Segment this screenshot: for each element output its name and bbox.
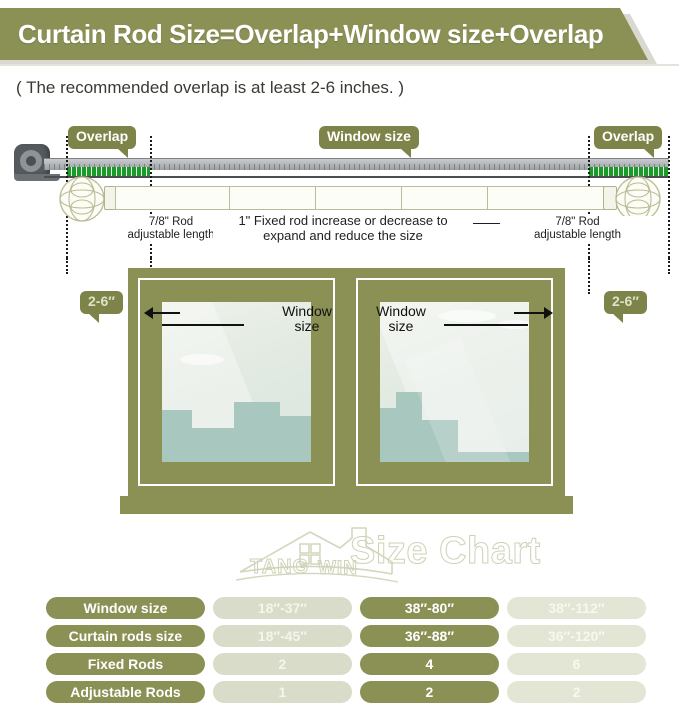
cell-fixed-rods-col1: 2	[213, 653, 352, 675]
row-header-fixed-rods: Fixed Rods	[46, 653, 205, 675]
badge-tail	[88, 313, 99, 323]
dim-center-line1: 1" Fixed rod increase or decrease to	[213, 214, 473, 229]
row-header-curtain-rods-size: Curtain rods size	[46, 625, 205, 647]
badge-2-6-right-label: 2-6″	[612, 293, 639, 309]
header-banner: Curtain Rod Size=Overlap+Window size+Ove…	[0, 8, 679, 66]
window-size-right-line1: Window	[364, 304, 438, 319]
rod-adjustable-right	[487, 186, 605, 210]
brand-logo-block: TANG WIN Size Chart	[222, 524, 552, 586]
badge-window-size-label: Window size	[327, 128, 411, 144]
window-size-label-left: Window size	[270, 304, 344, 335]
rod-diagram: Overlap Window size Overlap 7/8" Rod adj…	[0, 118, 679, 258]
cell-adjustable-rods-col1: 1	[213, 681, 352, 703]
building-block	[162, 458, 311, 462]
guide-line-ext-right	[588, 258, 590, 294]
window-size-right-line2: size	[364, 319, 438, 334]
window-size-rule-left	[162, 324, 244, 326]
badge-tail	[643, 148, 654, 158]
building-block	[234, 402, 280, 462]
badge-overlap-measure-right: 2-6″	[604, 291, 647, 314]
table-row: Window size 18″-37″ 38″-80″ 38″-112″	[46, 597, 646, 619]
subtitle-note: ( The recommended overlap is at least 2-…	[16, 78, 404, 98]
size-chart-table: Window size 18″-37″ 38″-80″ 38″-112″ Cur…	[46, 597, 646, 709]
dim-center-line2: expand and reduce the size	[213, 229, 473, 244]
cell-adjustable-rods-col2: 2	[360, 681, 499, 703]
guide-line-ext-far-left	[66, 258, 68, 274]
badge-overlap-right-label: Overlap	[602, 128, 654, 144]
row-header-window-size: Window size	[46, 597, 205, 619]
cell-window-size-col2: 38″-80″	[360, 597, 499, 619]
badge-overlap-left: Overlap	[68, 126, 136, 149]
cell-fixed-rods-col3: 6	[507, 653, 646, 675]
badge-tail	[117, 148, 128, 158]
badge-overlap-right: Overlap	[594, 126, 662, 149]
cell-curtain-rods-size-col3: 36″-120″	[507, 625, 646, 647]
dim-caption-right: 7/8" Rod adjustable length	[500, 216, 655, 242]
window-size-left-line2: size	[270, 319, 344, 334]
window-sill	[120, 496, 573, 514]
measure-arrow-line-left	[150, 312, 180, 314]
cell-fixed-rods-col2: 4	[360, 653, 499, 675]
page-title: Curtain Rod Size=Overlap+Window size+Ove…	[0, 19, 603, 50]
arrow-head-right-icon	[544, 307, 553, 319]
reel-hub	[26, 156, 36, 166]
dim-caption-center: 1" Fixed rod increase or decrease to exp…	[213, 214, 473, 244]
cell-curtain-rods-size-col2: 36″-88″	[360, 625, 499, 647]
size-chart-heading: Size Chart	[350, 530, 541, 573]
tape-edge	[44, 176, 669, 178]
badge-tail	[400, 148, 411, 158]
building-block	[162, 410, 192, 462]
cell-window-size-col1: 18″-37″	[213, 597, 352, 619]
banner-shape: Curtain Rod Size=Overlap+Window size+Ove…	[0, 8, 648, 60]
row-header-adjustable-rods: Adjustable Rods	[46, 681, 205, 703]
size-chart-infographic: Curtain Rod Size=Overlap+Window size+Ove…	[0, 0, 679, 716]
building-block	[192, 428, 234, 462]
window-size-label-right: Window size	[364, 304, 438, 335]
header-divider	[0, 64, 679, 66]
cell-curtain-rods-size-col1: 18″-45″	[213, 625, 352, 647]
building-block	[280, 416, 311, 462]
badge-window-size: Window size	[319, 126, 419, 149]
window-size-left-line1: Window	[270, 304, 344, 319]
table-row: Curtain rods size 18″-45″ 36″-88″ 36″-12…	[46, 625, 646, 647]
window-illustration: Window size Window size	[128, 268, 565, 515]
guide-line-ext-far-right	[668, 258, 670, 274]
badge-overlap-left-label: Overlap	[76, 128, 128, 144]
badge-overlap-measure-left: 2-6″	[80, 291, 123, 314]
table-row: Adjustable Rods 1 2 2	[46, 681, 646, 703]
arrow-head-left-icon	[144, 307, 153, 319]
cell-window-size-col3: 38″-112″	[507, 597, 646, 619]
measure-arrow-line-right	[514, 312, 546, 314]
dim-right-line2: adjustable length	[500, 229, 655, 242]
rod-fixed-segment-1	[229, 186, 317, 210]
rod-fixed-segment-3	[401, 186, 489, 210]
guide-line-4	[668, 136, 670, 258]
rod-adjustable-left	[115, 186, 231, 210]
badge-tail	[612, 313, 623, 323]
cell-adjustable-rods-col3: 2	[507, 681, 646, 703]
brand-name-left: TANG	[250, 556, 309, 579]
window-size-rule-right	[444, 324, 528, 326]
table-row: Fixed Rods 2 4 6	[46, 653, 646, 675]
rod-fixed-segment-2	[315, 186, 403, 210]
badge-2-6-left-label: 2-6″	[88, 293, 115, 309]
dim-right-line1: 7/8" Rod	[500, 216, 655, 229]
